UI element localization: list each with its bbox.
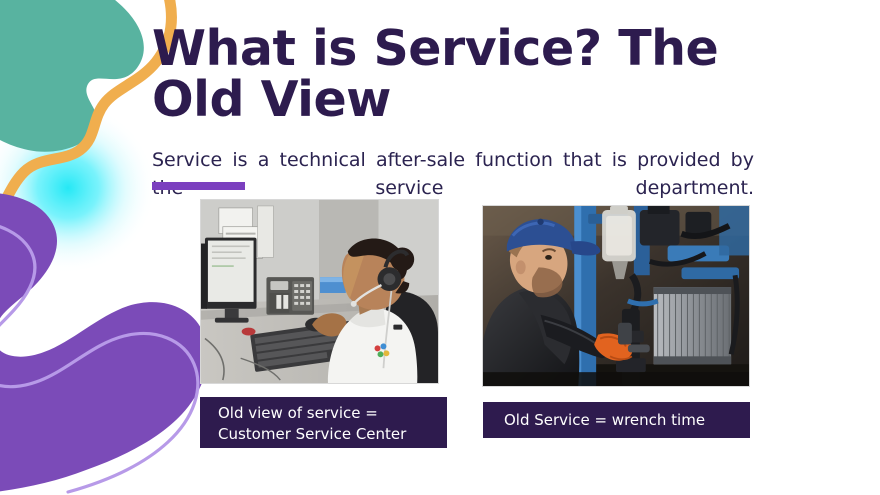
teal-blob <box>0 0 144 152</box>
cyan-radial-glow <box>0 102 156 274</box>
slide-title: What is Service? The Old View <box>152 23 792 125</box>
purple-highlight-bar <box>152 182 245 190</box>
photo-customer-service-center <box>200 199 439 384</box>
purple-blob <box>0 192 208 495</box>
purple-outline-stroke <box>0 221 198 492</box>
orange-wave-curve <box>0 0 171 232</box>
caption-left: Old view of service = Customer Service C… <box>200 397 447 448</box>
slide-canvas: What is Service? The Old View Service is… <box>0 0 880 495</box>
caption-right: Old Service = wrench time <box>483 402 750 438</box>
photo-mechanic-wrench-time <box>482 205 750 387</box>
